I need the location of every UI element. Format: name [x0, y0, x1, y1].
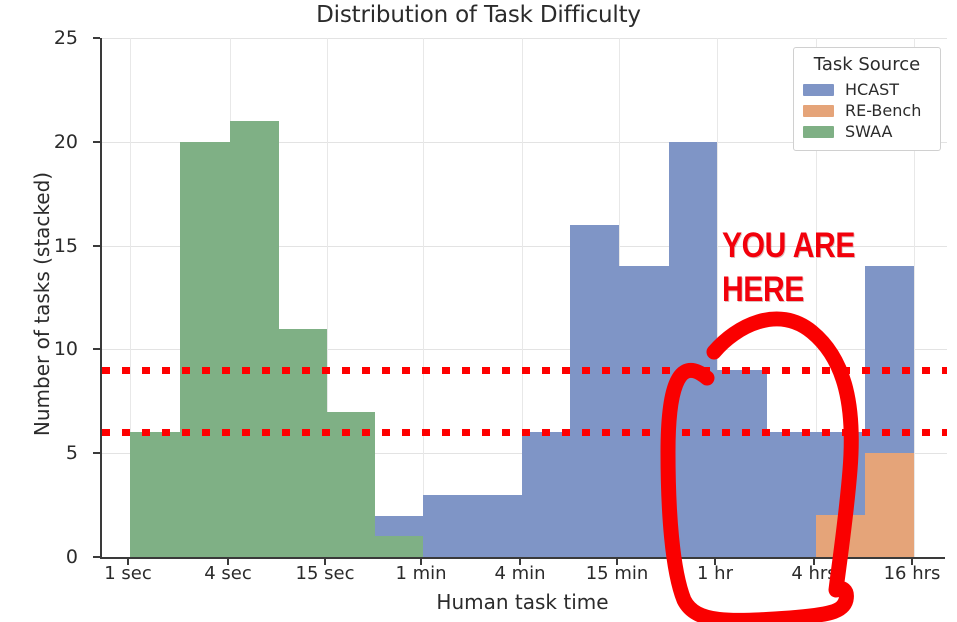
you-are-here-line2: HERE: [722, 271, 804, 309]
x-tick-mark: [227, 557, 229, 565]
chart-root: Distribution of Task Difficulty Number o…: [0, 0, 957, 622]
y-tick-label: 15: [0, 235, 78, 257]
x-tick-mark: [127, 557, 129, 565]
legend-item-swaa[interactable]: SWAA: [803, 121, 931, 142]
x-tick-mark: [911, 557, 913, 565]
bar-segment[interactable]: [816, 515, 865, 557]
legend: Task Source HCAST RE-Bench SWAA: [793, 47, 941, 151]
bar-segment[interactable]: [130, 432, 180, 557]
chart-title: Distribution of Task Difficulty: [0, 2, 957, 28]
x-tick-label: 15 min: [586, 563, 649, 584]
y-tick-mark: [93, 452, 100, 454]
legend-title: Task Source: [803, 54, 931, 75]
bar-segment[interactable]: [472, 495, 522, 557]
y-tick-mark: [93, 556, 100, 558]
you-are-here-line1: YOU ARE: [722, 227, 855, 265]
bar-segment[interactable]: [767, 432, 816, 557]
y-tick-label: 10: [0, 338, 78, 360]
y-tick-mark: [93, 141, 100, 143]
legend-label-rebench: RE-Bench: [845, 101, 921, 120]
gridline-vertical: [423, 38, 424, 557]
bar-segment[interactable]: [865, 266, 914, 453]
bar-segment[interactable]: [570, 225, 619, 557]
y-axis-label: Number of tasks (stacked): [30, 44, 54, 564]
x-tick-label: 16 hrs: [884, 563, 941, 584]
y-axis-label-wrap: Number of tasks (stacked): [0, 0, 40, 622]
x-tick-label: 1 min: [395, 563, 446, 584]
bar-segment[interactable]: [619, 266, 669, 557]
reference-line: [102, 367, 947, 374]
x-tick-label: 1 sec: [104, 563, 152, 584]
legend-item-hcast[interactable]: HCAST: [803, 79, 931, 100]
bar-segment[interactable]: [279, 329, 327, 557]
bar-segment[interactable]: [816, 432, 865, 515]
legend-label-hcast: HCAST: [845, 80, 899, 99]
x-tick-mark: [324, 557, 326, 565]
x-tick-label: 4 sec: [204, 563, 252, 584]
y-tick-label: 5: [0, 442, 78, 464]
y-tick-mark: [93, 245, 100, 247]
x-tick-mark: [813, 557, 815, 565]
bar-segment[interactable]: [375, 536, 423, 557]
bar-segment[interactable]: [865, 453, 914, 557]
x-tick-mark: [616, 557, 618, 565]
y-tick-label: 20: [0, 131, 78, 153]
x-tick-mark: [519, 557, 521, 565]
legend-swatch-hcast: [803, 84, 834, 96]
bar-segment[interactable]: [230, 121, 279, 557]
bar-segment[interactable]: [717, 370, 767, 557]
y-tick-mark: [93, 37, 100, 39]
legend-label-swaa: SWAA: [845, 122, 892, 141]
x-tick-label: 4 hrs: [791, 563, 836, 584]
x-axis-label: Human task time: [100, 590, 945, 614]
legend-swatch-swaa: [803, 126, 834, 138]
x-tick-label: 15 sec: [296, 563, 355, 584]
bar-segment[interactable]: [375, 516, 423, 537]
y-tick-mark: [93, 348, 100, 350]
x-tick-label: 4 min: [494, 563, 545, 584]
reference-line: [102, 429, 947, 436]
y-tick-label: 0: [0, 546, 78, 568]
y-tick-label: 25: [0, 27, 78, 49]
gridline-horizontal: [102, 38, 947, 39]
x-tick-label: 1 hr: [697, 563, 733, 584]
x-tick-mark: [420, 557, 422, 565]
legend-item-rebench[interactable]: RE-Bench: [803, 100, 931, 121]
bar-segment[interactable]: [669, 142, 717, 557]
bar-segment[interactable]: [180, 142, 230, 557]
bar-segment[interactable]: [522, 432, 570, 557]
legend-swatch-rebench: [803, 105, 834, 117]
bar-segment[interactable]: [423, 495, 472, 557]
x-tick-mark: [714, 557, 716, 565]
